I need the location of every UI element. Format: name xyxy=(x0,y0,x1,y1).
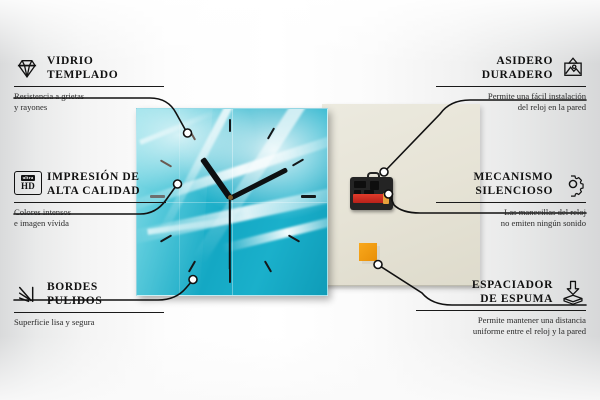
feature-desc: uniforme entre el reloj y la pared xyxy=(416,326,586,337)
diamond-icon xyxy=(14,55,40,81)
feature-impresion-alta-calidad: ultra HD IMPRESIÓN DE ALTA CALIDAD Color… xyxy=(14,170,166,229)
picture-hanger-icon xyxy=(560,55,586,81)
ultra-hd-icon: ultra HD xyxy=(14,171,40,197)
feature-desc: Permite una fácil instalación xyxy=(436,91,586,102)
feature-title: ESPACIADOR xyxy=(472,278,553,292)
leader-endpoint xyxy=(380,168,388,176)
feature-title: IMPRESIÓN DE xyxy=(47,170,140,184)
leader-endpoint xyxy=(184,129,192,137)
feature-desc: Las manecillas del reloj xyxy=(436,207,586,218)
feature-title: VIDRIO xyxy=(47,54,118,68)
feature-divider xyxy=(436,86,586,87)
feature-title: SILENCIOSO xyxy=(473,184,553,198)
ultra-hd-icon-bottom: HD xyxy=(21,182,35,191)
feature-asidero-duradero: ASIDERO DURADERO Permite una fácil insta… xyxy=(436,54,586,113)
feature-title: ASIDERO xyxy=(482,54,553,68)
feature-title: TEMPLADO xyxy=(47,68,118,82)
leader-endpoint xyxy=(374,261,382,269)
feature-title: BORDES xyxy=(47,280,102,294)
leader-endpoint xyxy=(385,190,393,198)
feature-title: ALTA CALIDAD xyxy=(47,184,140,198)
feature-title: MECANISMO xyxy=(473,170,553,184)
infographic-canvas: VIDRIO TEMPLADO Resistencia a grietas y … xyxy=(0,0,600,400)
feature-divider xyxy=(14,312,164,313)
leader-endpoint xyxy=(189,276,197,284)
feature-title: DURADERO xyxy=(482,68,553,82)
feature-vidrio-templado: VIDRIO TEMPLADO Resistencia a grietas y … xyxy=(14,54,164,113)
feature-divider xyxy=(436,202,586,203)
leader-endpoint xyxy=(174,180,182,188)
gear-icon xyxy=(560,171,586,197)
feature-desc: del reloj en la pared xyxy=(436,102,586,113)
feature-bordes-pulidos: BORDES PULIDOS Superficie lisa y segura xyxy=(14,280,164,328)
feature-desc: no emiten ningún sonido xyxy=(436,218,586,229)
feature-espaciador-de-espuma: ESPACIADOR DE ESPUMA Permite mantener un… xyxy=(416,278,586,337)
feature-desc: Colores intensos xyxy=(14,207,166,218)
feature-divider xyxy=(416,310,586,311)
feature-desc: Permite mantener una distancia xyxy=(416,315,586,326)
press-down-pad-icon xyxy=(560,279,586,305)
feature-mecanismo-silencioso: MECANISMO SILENCIOSO Las manecillas del … xyxy=(436,170,586,229)
diagonal-lines-icon xyxy=(14,281,40,307)
feature-divider xyxy=(14,202,166,203)
feature-title: DE ESPUMA xyxy=(472,292,553,306)
feature-desc: Superficie lisa y segura xyxy=(14,317,164,328)
feature-desc: y rayones xyxy=(14,102,164,113)
feature-desc: Resistencia a grietas xyxy=(14,91,164,102)
feature-desc: e imagen vívida xyxy=(14,218,166,229)
feature-divider xyxy=(14,86,164,87)
feature-title: PULIDOS xyxy=(47,294,102,308)
